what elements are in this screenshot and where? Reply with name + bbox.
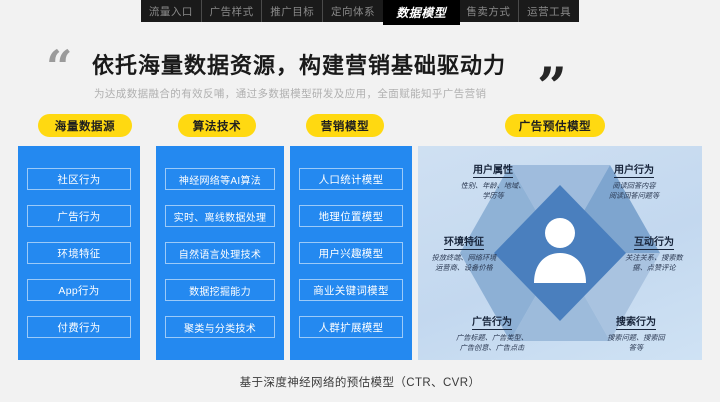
list-item[interactable]: 神经网络等AI算法 <box>165 168 275 190</box>
hex-node-ad-behavior: 广告行为 广告标题、广告类型、 广告创意、广告点击 <box>440 312 544 352</box>
nav-tab-label: 数据模型 <box>396 4 446 21</box>
quote-open-mark: “ <box>46 44 72 90</box>
nav-tab-tuiguangmubiao[interactable]: 推广目标 <box>262 0 323 22</box>
hex-node-interaction: 互动行为 关注关系、搜索数 据、点赞评论 <box>608 232 700 272</box>
hex-node-title: 广告行为 <box>472 313 512 330</box>
hex-node-desc: 阅读回答内容 阅读回答问题等 <box>586 181 682 200</box>
nav-tab-shujumoxing-active[interactable]: 数据模型 <box>384 0 459 24</box>
hex-node-title: 互动行为 <box>634 233 674 250</box>
column-algorithm: 神经网络等AI算法 实时、离线数据处理 自然语言处理技术 数据挖掘能力 聚类与分… <box>156 146 284 360</box>
list-item[interactable]: 环境特征 <box>27 242 132 264</box>
list-item[interactable]: App行为 <box>27 279 132 301</box>
column-marketing-model: 人口统计模型 地理位置模型 用户兴趣模型 商业关键词模型 人群扩展模型 <box>290 146 412 360</box>
nav-tab-shoumaifangshi[interactable]: 售卖方式 <box>459 0 520 22</box>
hex-node-title: 搜索行为 <box>616 313 656 330</box>
hex-node-desc: 搜索问题、搜索回 答等 <box>588 333 684 352</box>
list-item[interactable]: 数据挖掘能力 <box>165 279 275 301</box>
hex-node-environment: 环境特征 投放终端、网络环境 运营商、设备价格 <box>418 232 512 272</box>
list-item[interactable]: 人口统计模型 <box>299 168 404 190</box>
hex-node-desc: 广告标题、广告类型、 广告创意、广告点击 <box>440 333 544 352</box>
chip-label: App行为 <box>58 283 99 298</box>
chip-label: 人群扩展模型 <box>319 320 384 335</box>
nav-tab-label: 定向体系 <box>331 4 375 19</box>
chip-label: 付费行为 <box>57 320 100 335</box>
page-subtitle: 为达成数据融合的有效反哺，通过多数据模型研发及应用，全面赋能知乎广告营销 <box>94 86 486 101</box>
nav-tab-yunyinggongju[interactable]: 运营工具 <box>519 0 579 22</box>
chip-label: 地理位置模型 <box>319 209 384 224</box>
chip-label: 自然语言处理技术 <box>179 246 261 261</box>
hex-node-desc: 关注关系、搜索数 据、点赞评论 <box>608 253 700 272</box>
nav-tab-dingxiangtixi[interactable]: 定向体系 <box>323 0 384 22</box>
list-item[interactable]: 实时、离线数据处理 <box>165 205 275 227</box>
chip-label: 商业关键词模型 <box>313 283 389 298</box>
hex-node-desc: 投放终端、网络环境 运营商、设备价格 <box>418 253 512 272</box>
list-item[interactable]: 付费行为 <box>27 316 132 338</box>
hexagon-diagram-panel: 用户属性 性别、年龄、地域、 学历等 用户行为 阅读回答内容 阅读回答问题等 环… <box>418 146 702 360</box>
nav-tab-liuliangrukou[interactable]: 流量入口 <box>141 0 202 22</box>
chip-label: 聚类与分类技术 <box>184 320 256 335</box>
section-badge-algorithm: 算法技术 <box>178 114 256 137</box>
list-item[interactable]: 用户兴趣模型 <box>299 242 404 264</box>
chip-label: 社区行为 <box>57 172 100 187</box>
chip-label: 人口统计模型 <box>319 172 384 187</box>
hex-node-user-behavior: 用户行为 阅读回答内容 阅读回答问题等 <box>586 160 682 200</box>
list-item[interactable]: 自然语言处理技术 <box>165 242 275 264</box>
section-badge-ad-prediction-model: 广告预估模型 <box>505 114 605 137</box>
hex-node-search-behavior: 搜索行为 搜索问题、搜索回 答等 <box>588 312 684 352</box>
hex-node-title: 用户属性 <box>473 161 513 178</box>
list-item[interactable]: 聚类与分类技术 <box>165 316 275 338</box>
chip-label: 神经网络等AI算法 <box>179 172 261 187</box>
chip-label: 用户兴趣模型 <box>319 246 384 261</box>
list-item[interactable]: 地理位置模型 <box>299 205 404 227</box>
nav-tab-guanggaoyangshi[interactable]: 广告样式 <box>202 0 263 22</box>
chip-label: 数据挖掘能力 <box>189 283 251 298</box>
nav-tab-label: 广告样式 <box>210 4 254 19</box>
list-item[interactable]: 人群扩展模型 <box>299 316 404 338</box>
column-data-source: 社区行为 广告行为 环境特征 App行为 付费行为 <box>18 146 140 360</box>
top-navigation-bar: 流量入口 广告样式 推广目标 定向体系 数据模型 售卖方式 运营工具 <box>141 0 579 22</box>
nav-tab-label: 运营工具 <box>527 4 571 19</box>
nav-tab-label: 流量入口 <box>149 4 193 19</box>
nav-tab-label: 推广目标 <box>270 4 314 19</box>
list-item[interactable]: 社区行为 <box>27 168 132 190</box>
section-badge-marketing-model: 营销模型 <box>306 114 384 137</box>
list-item[interactable]: 商业关键词模型 <box>299 279 404 301</box>
section-badge-data-source: 海量数据源 <box>38 114 132 137</box>
chip-label: 广告行为 <box>57 209 100 224</box>
diagram-caption: 基于深度神经网络的预估模型（CTR、CVR） <box>0 374 720 390</box>
page-title: 依托海量数据资源，构建营销基础驱动力 <box>92 48 506 80</box>
hex-node-user-attributes: 用户属性 性别、年龄、地域、 学历等 <box>448 160 538 200</box>
hex-node-title: 环境特征 <box>444 233 484 250</box>
hex-node-desc: 性别、年龄、地域、 学历等 <box>448 181 538 200</box>
nav-tab-label: 售卖方式 <box>466 4 510 19</box>
chip-label: 环境特征 <box>57 246 100 261</box>
list-item[interactable]: 广告行为 <box>27 205 132 227</box>
quote-close-mark: ” <box>537 62 567 114</box>
chip-label: 实时、离线数据处理 <box>174 209 267 224</box>
hex-node-title: 用户行为 <box>614 161 654 178</box>
